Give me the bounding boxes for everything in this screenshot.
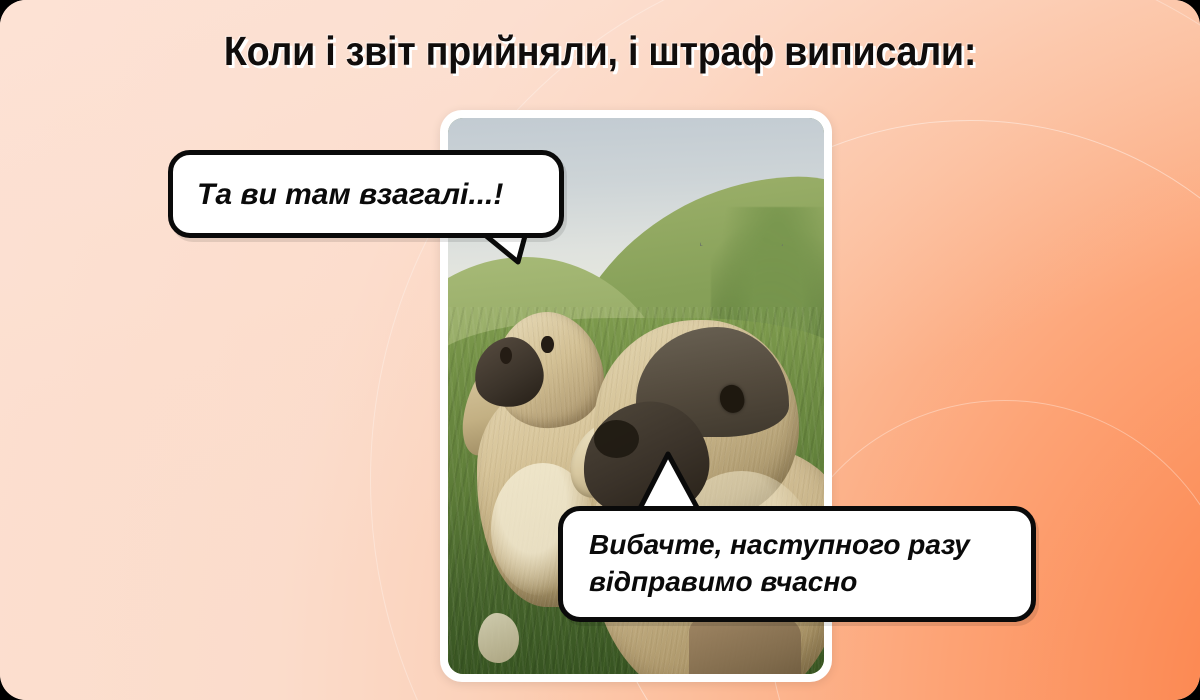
marmot-back-eye-right [541, 336, 553, 353]
speech-bubble-bottom-right-text: Вибачте, наступного разу відправимо вчас… [589, 527, 970, 601]
photo-twig [700, 157, 783, 246]
page-title: Коли і звіт прийняли, і штраф виписали: [48, 28, 1152, 75]
speech-bubble-top-left[interactable]: Та ви там взагалі...! [168, 150, 564, 238]
speech-bubble-top-left-text: Та ви там взагалі...! [197, 178, 503, 211]
marmot-front-nose [594, 420, 639, 458]
meme-canvas: Коли і звіт прийняли, і штраф виписали: [0, 0, 1200, 700]
speech-bubble-bottom-right[interactable]: Вибачте, наступного разу відправимо вчас… [558, 506, 1036, 622]
photo-log [689, 618, 802, 674]
